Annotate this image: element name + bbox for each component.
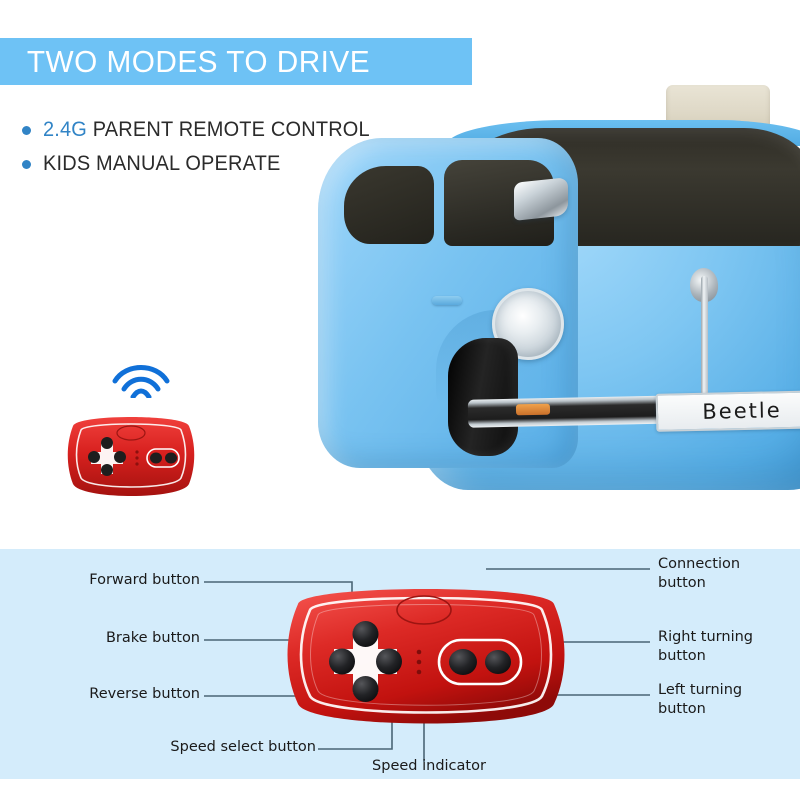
door-handle — [432, 296, 462, 305]
callout-brake-button: Brake button — [18, 629, 200, 648]
bullet-dot-icon — [22, 126, 31, 135]
hood-chrome-strip — [701, 276, 708, 404]
page-title: TWO MODES TO DRIVE — [0, 44, 370, 80]
callout-reverse-button: Reverse button — [18, 685, 200, 704]
speed-indicator-led-small — [135, 450, 138, 453]
remote-control-large — [276, 570, 576, 740]
feature-highlight-0: 2.4G — [43, 118, 87, 141]
ride-on-car-image: Beetle — [318, 80, 800, 530]
left-turning-button — [449, 649, 477, 675]
speed-indicator-led — [417, 670, 422, 675]
callout-left-turning-button: Left turning button — [658, 681, 798, 719]
turn-signal-light — [516, 404, 550, 416]
callout-speed-indicator: Speed indicator — [344, 757, 514, 776]
right-turning-button — [485, 650, 511, 674]
product-feature-image: TWO MODES TO DRIVE 2.4G PARENT REMOTE CO… — [0, 0, 800, 800]
speed-indicator-led-small — [135, 456, 138, 459]
license-plate: Beetle — [656, 390, 800, 432]
door-quarter-glass — [344, 166, 434, 244]
wifi-signal-icon — [112, 356, 170, 398]
brake-button — [329, 649, 355, 675]
callout-right-turning-button: Right turning button — [658, 628, 798, 666]
bullet-dot-icon — [22, 160, 31, 169]
callout-forward-button: Forward button — [18, 571, 200, 590]
feature-rest-1: KIDS MANUAL OPERATE — [43, 152, 281, 175]
license-plate-text: Beetle — [702, 398, 782, 424]
speed-indicator-led-small — [135, 462, 138, 465]
reverse-button-small — [101, 464, 113, 476]
forward-button-small — [101, 437, 113, 449]
speed-select-button-small — [114, 451, 126, 463]
right-turning-button-small — [165, 453, 177, 464]
callout-connection-button: Connection button — [658, 555, 798, 593]
left-turning-button-small — [150, 453, 162, 464]
feature-item-label-1: KIDS MANUAL OPERATE — [43, 152, 281, 176]
speed-indicator-led — [417, 660, 422, 665]
front-wheel — [448, 338, 518, 456]
header-banner: TWO MODES TO DRIVE — [0, 38, 472, 85]
remote-control-small — [63, 404, 199, 504]
brake-button-small — [88, 451, 100, 463]
reverse-button — [353, 676, 379, 702]
forward-button — [353, 621, 379, 647]
speed-indicator-led — [417, 650, 422, 655]
side-mirror — [514, 177, 568, 221]
speed-select-button — [376, 649, 402, 675]
callout-speed-select-button: Speed select button — [88, 738, 316, 757]
remote-large-shell — [288, 589, 565, 724]
